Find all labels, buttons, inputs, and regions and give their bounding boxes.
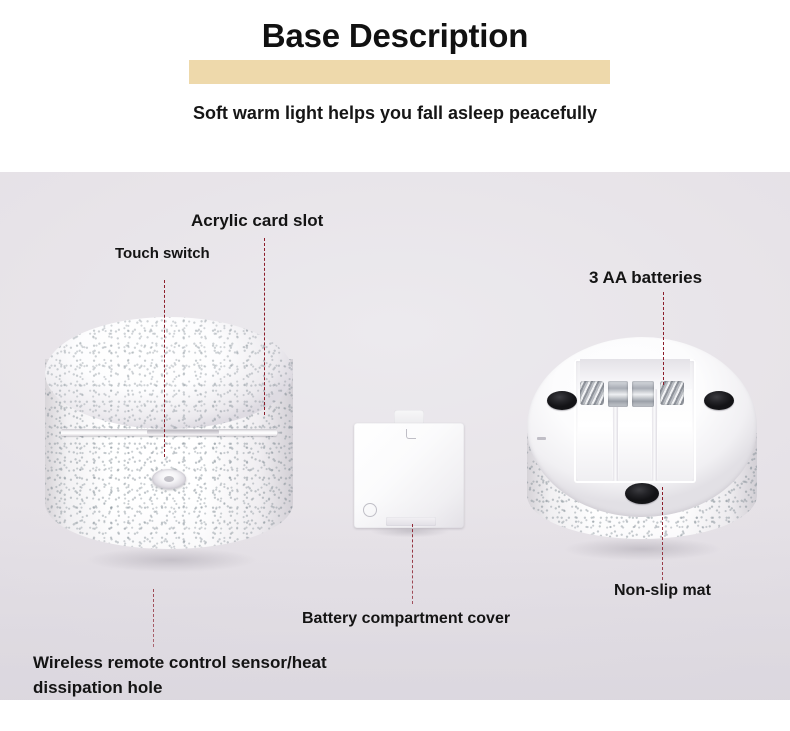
non-slip-pad bbox=[547, 391, 577, 410]
leader-line-3-aa-batteries bbox=[663, 292, 664, 385]
callout-label-3-aa-batteries: 3 AA batteries bbox=[589, 267, 702, 288]
base-right-underside bbox=[527, 337, 757, 517]
callout-label-battery-compartment-cover: Battery compartment cover bbox=[302, 608, 510, 629]
base-right-unit bbox=[527, 337, 757, 572]
leader-line-acrylic-card-slot bbox=[264, 238, 265, 415]
callout-label-touch-switch: Touch switch bbox=[115, 243, 210, 264]
battery-compartment-cover bbox=[351, 410, 467, 532]
crackle-texture bbox=[45, 317, 293, 429]
non-slip-pad bbox=[704, 391, 734, 410]
battery-bay bbox=[574, 359, 696, 483]
battery-cover-notch bbox=[406, 429, 416, 439]
acrylic-card-slot bbox=[61, 429, 277, 436]
non-slip-pad bbox=[625, 483, 659, 504]
battery-contact bbox=[632, 381, 654, 407]
ir-sensor-notch bbox=[537, 437, 546, 440]
touch-switch[interactable] bbox=[152, 469, 186, 489]
battery-cover-plate bbox=[354, 423, 464, 528]
leader-line-non-slip-mat bbox=[662, 487, 663, 580]
header-section: Base Description Soft warm light helps y… bbox=[0, 0, 790, 172]
battery-spring bbox=[580, 381, 604, 405]
leader-line-battery-cover bbox=[412, 524, 413, 604]
battery-bay-back-wall bbox=[580, 359, 690, 381]
title-highlight-bar bbox=[189, 60, 610, 84]
touch-switch-center-dot bbox=[164, 476, 174, 482]
base-left-top-surface bbox=[45, 317, 293, 429]
battery-contact bbox=[608, 381, 628, 407]
callout-label-acrylic-card-slot: Acrylic card slot bbox=[191, 210, 323, 231]
callout-label-non-slip-mat: Non-slip mat bbox=[614, 580, 711, 601]
battery-cover-screw-hole bbox=[363, 503, 377, 517]
leader-line-wireless-sensor bbox=[153, 589, 154, 647]
callout-label-wireless-remote-sensor: Wireless remote control sensor/heat diss… bbox=[33, 650, 327, 700]
page-subtitle: Soft warm light helps you fall asleep pe… bbox=[0, 100, 790, 126]
battery-cover-lip bbox=[386, 517, 436, 526]
base-left-unit bbox=[45, 317, 293, 581]
page-title: Base Description bbox=[0, 16, 790, 56]
acrylic-card-slot-groove bbox=[147, 430, 219, 434]
leader-line-touch-switch bbox=[164, 280, 165, 457]
